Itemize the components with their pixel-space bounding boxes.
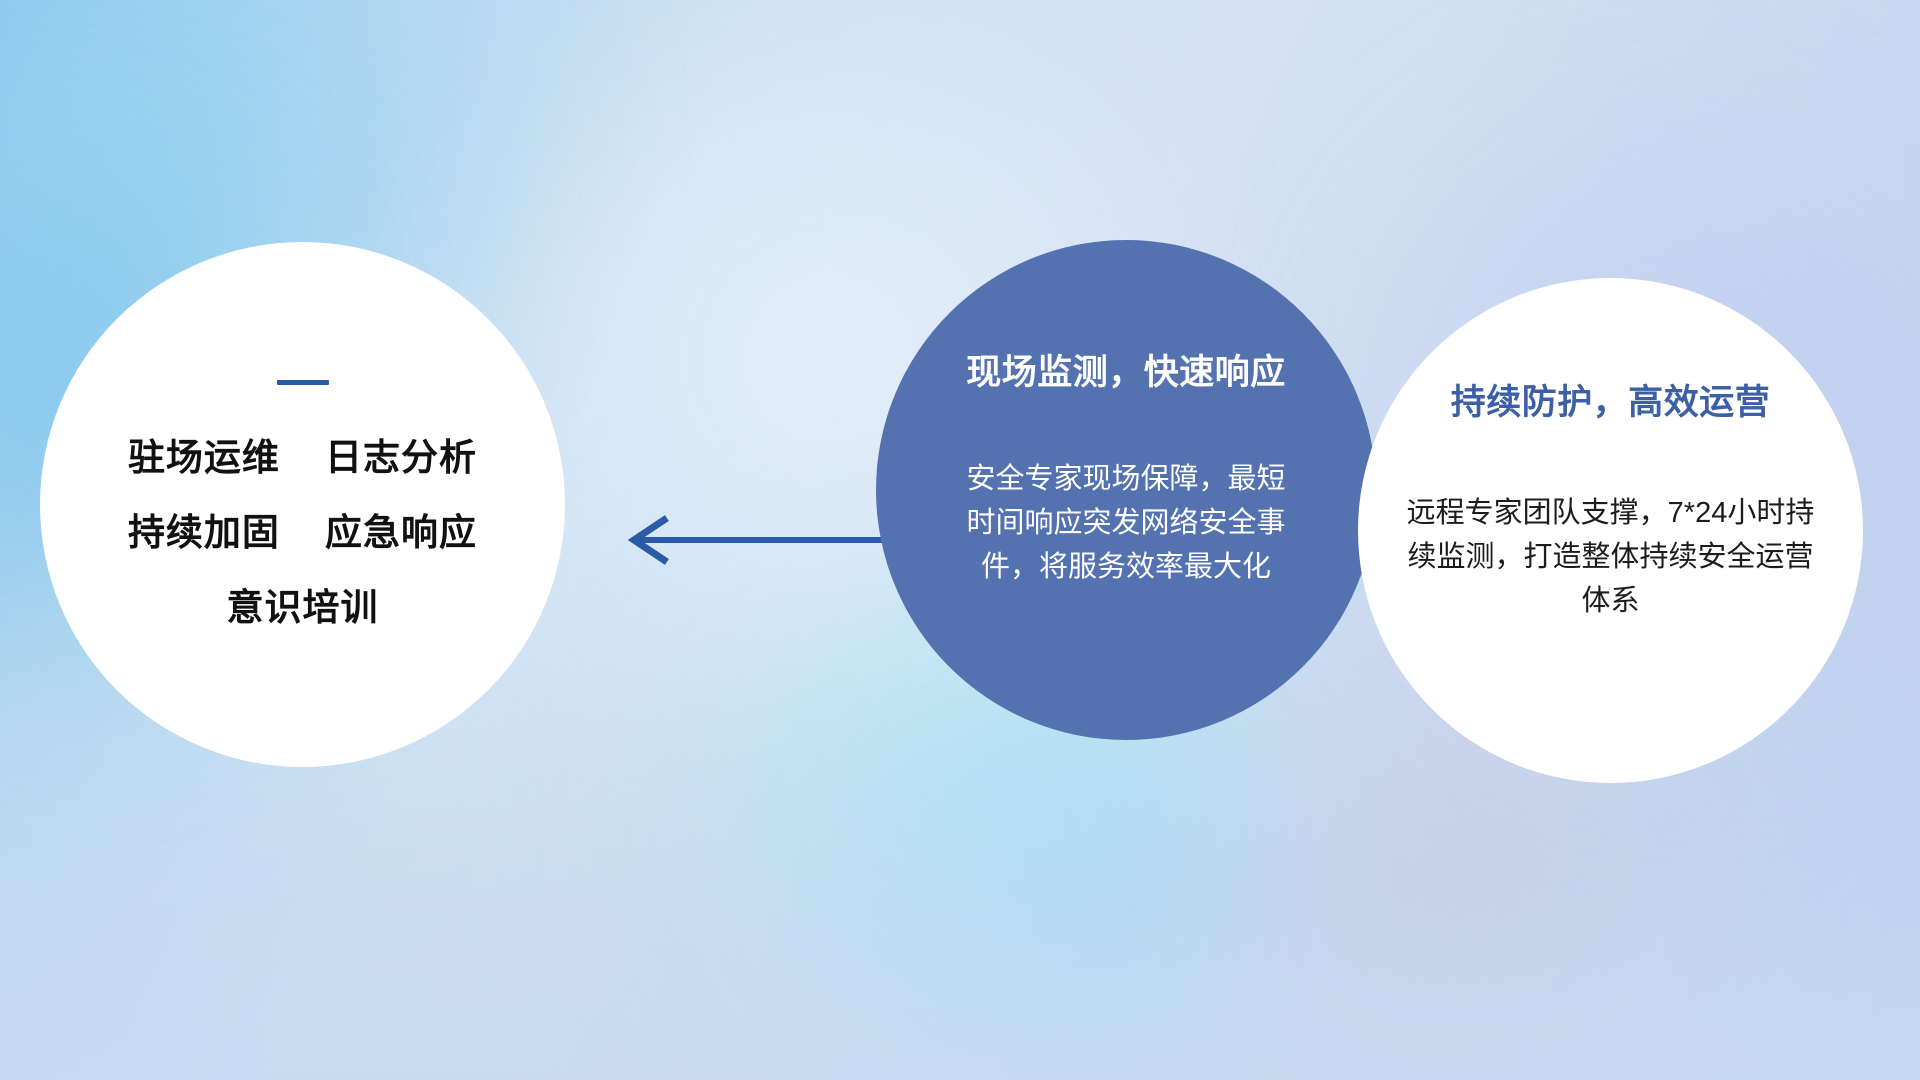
right-circle-title: 持续防护，高效运营 (1451, 374, 1771, 425)
keyword-line: 持续加固 应急响应 (128, 514, 477, 551)
middle-circle-title: 现场监测，快速响应 (966, 344, 1286, 395)
keyword-line: 意识培训 (227, 589, 379, 626)
capability-circle-left[interactable]: 驻场运维 日志分析 持续加固 应急响应 意识培训 (40, 242, 565, 767)
arrow-left-icon (608, 508, 898, 572)
slide-canvas: 驻场运维 日志分析 持续加固 应急响应 意识培训 现场监测，快速响应 安全专家现… (0, 0, 1920, 1080)
right-circle-body: 远程专家团队支撑，7*24小时持续监测，打造整体持续安全运营体系 (1406, 491, 1816, 623)
divider-dash-icon (277, 380, 329, 385)
middle-circle-body: 安全专家现场保障，最短时间响应突发网络安全事件，将服务效率最大化 (961, 457, 1291, 589)
capability-circle-right[interactable]: 持续防护，高效运营 远程专家团队支撑，7*24小时持续监测，打造整体持续安全运营… (1358, 278, 1863, 783)
keyword-line: 驻场运维 日志分析 (128, 439, 477, 476)
capability-circle-middle[interactable]: 现场监测，快速响应 安全专家现场保障，最短时间响应突发网络安全事件，将服务效率最… (876, 240, 1376, 740)
